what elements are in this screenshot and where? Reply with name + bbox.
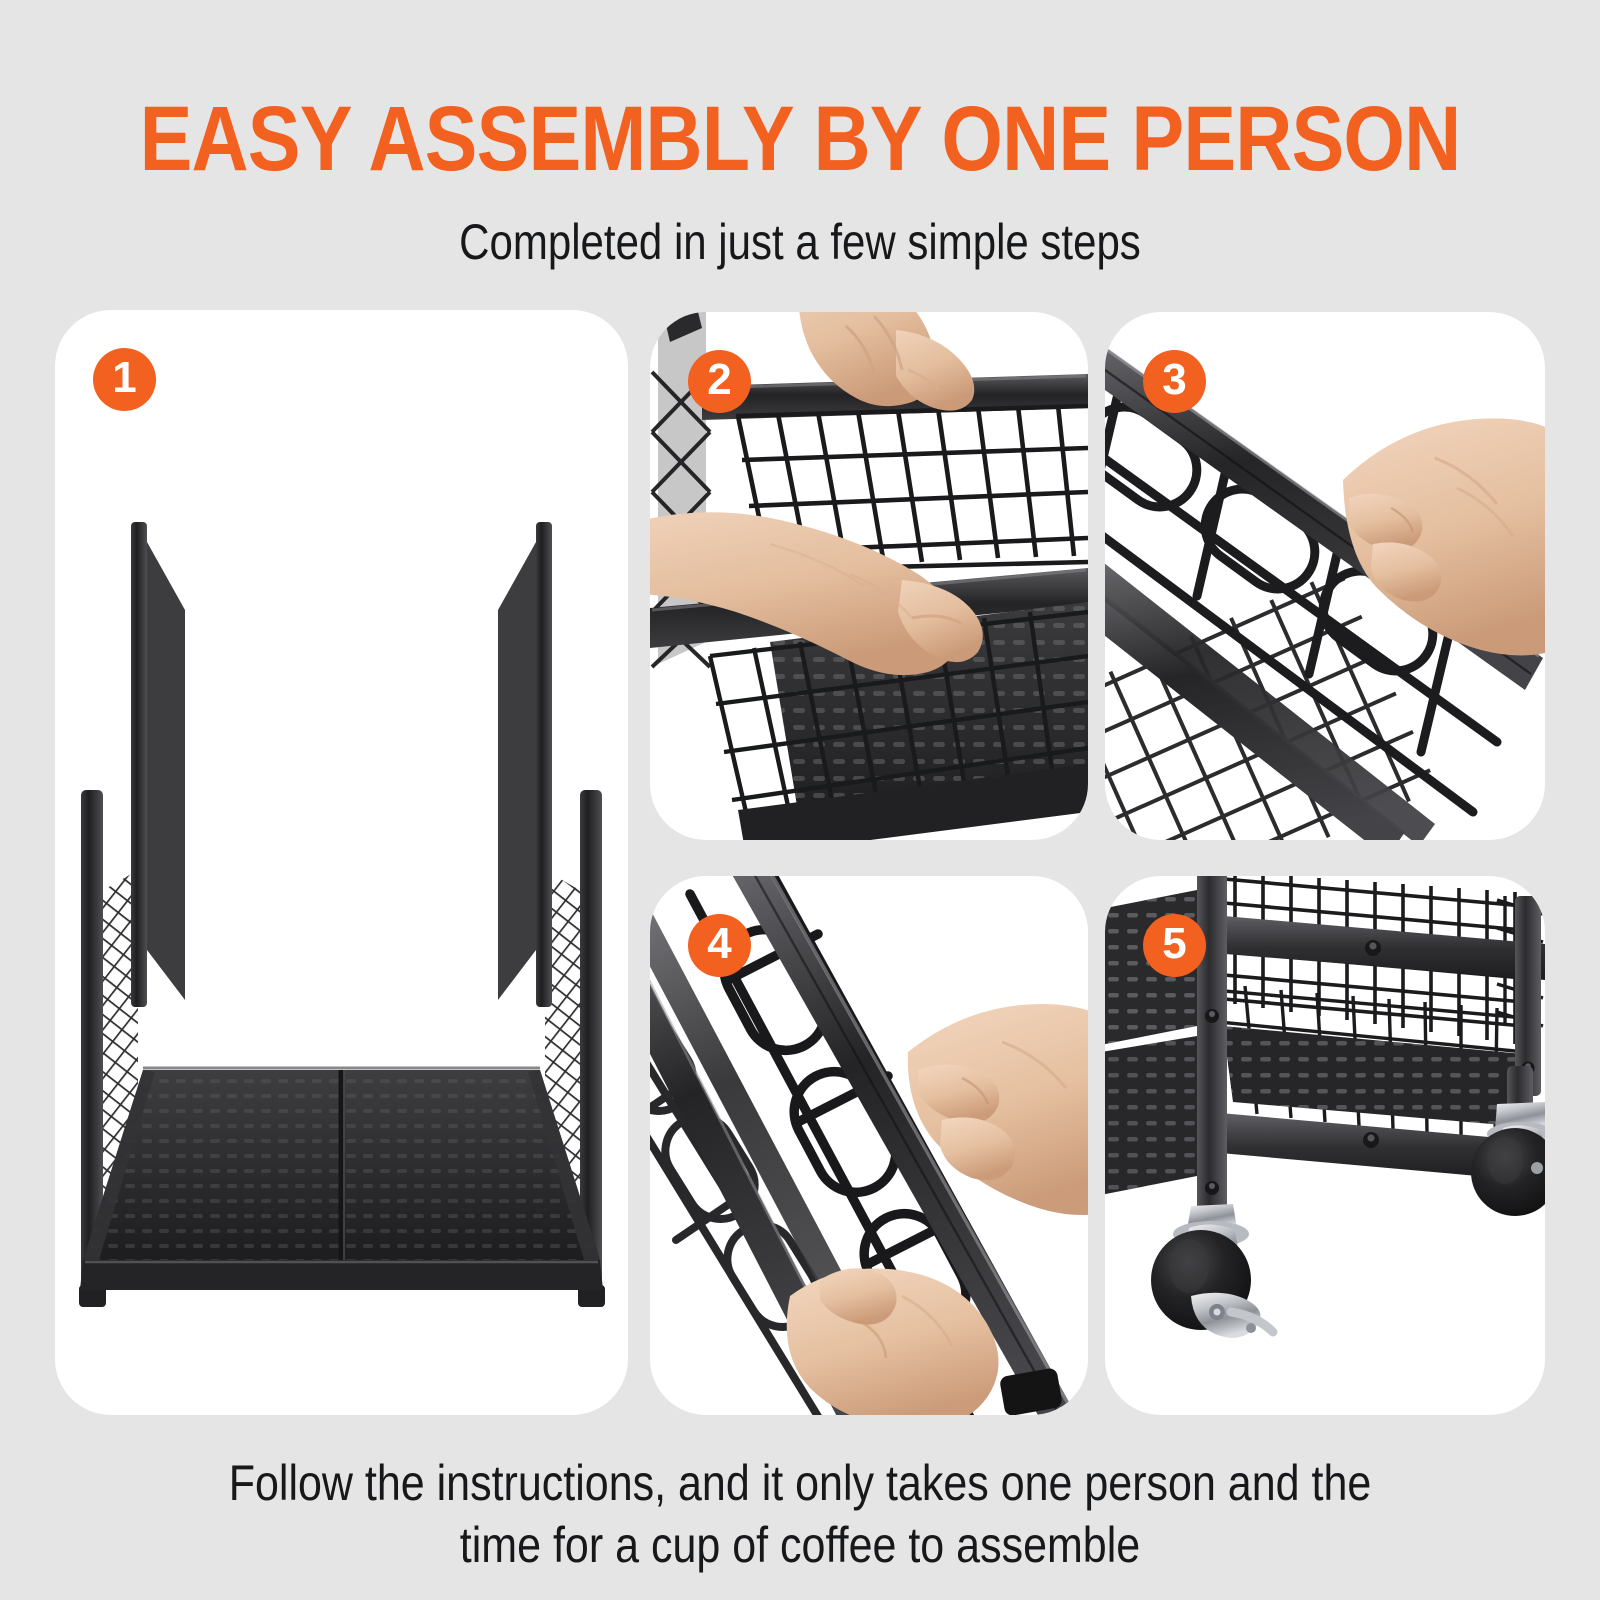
step-badge-4: 4 — [688, 914, 751, 977]
step-number-3: 3 — [1162, 355, 1186, 405]
step-panel-1: 1 — [55, 310, 628, 1415]
hand-right — [1343, 418, 1545, 655]
brace-left — [147, 542, 185, 1000]
caster-wheel-left — [1151, 1204, 1273, 1338]
mid-perforated-tray — [1223, 1026, 1523, 1126]
brace-right — [498, 542, 536, 1000]
brake-lever — [1191, 1293, 1273, 1338]
black-foot-cap — [999, 1367, 1063, 1415]
bottom-shelf — [80, 1068, 603, 1290]
step-number-5: 5 — [1162, 919, 1186, 969]
step-panel-5: 5 — [1105, 876, 1545, 1415]
step-1-illustration — [55, 310, 628, 1415]
footer-line-2: time for a cup of coffee to assemble — [198, 1514, 1402, 1576]
step-panel-3: 3 — [1105, 312, 1545, 840]
step-badge-1: 1 — [93, 348, 156, 411]
upper-frame-rail — [1201, 914, 1545, 980]
step-panel-4: 4 — [650, 876, 1088, 1415]
footer-caption: Follow the instructions, and it only tak… — [198, 1452, 1402, 1576]
cart-base-frame-art — [55, 310, 628, 1415]
page-subtitle: Completed in just a few simple steps — [128, 214, 1472, 270]
post-rear-left — [131, 522, 147, 1007]
step-badge-3: 3 — [1143, 350, 1206, 413]
step-panel-2: 2 — [650, 312, 1088, 840]
step-badge-5: 5 — [1143, 914, 1206, 977]
step-number-4: 4 — [707, 919, 731, 969]
bottom-perforated-shelf — [1105, 1036, 1197, 1202]
step-number-1: 1 — [112, 353, 136, 403]
post-rear-right — [536, 522, 552, 1007]
page-title: EASY ASSEMBLY BY ONE PERSON — [112, 92, 1488, 186]
footer-line-1: Follow the instructions, and it only tak… — [198, 1452, 1402, 1514]
step-number-2: 2 — [707, 355, 731, 405]
step-badge-2: 2 — [688, 350, 751, 413]
